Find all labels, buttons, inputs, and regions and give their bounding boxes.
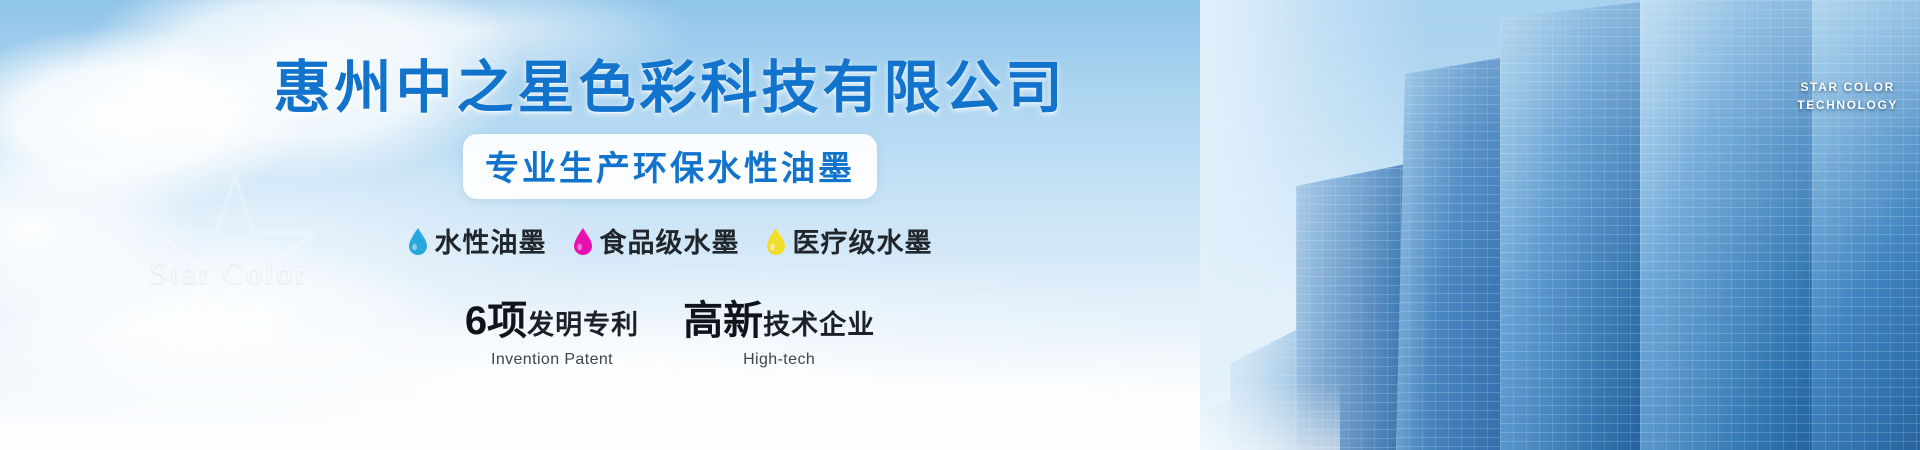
building-brand-line2: TECHNOLOGY (1797, 96, 1898, 114)
subtitle-pill: 专业生产环保水性油墨 (463, 134, 877, 199)
badge-strong-text: 高新 (683, 288, 763, 346)
badge-rest-text: 技术企业 (763, 303, 875, 342)
feature-label: 医疗级水墨 (793, 221, 933, 260)
building-brand-label: STAR COLOR TECHNOLOGY (1797, 78, 1898, 114)
building-brand-line1: STAR COLOR (1797, 78, 1898, 96)
water-drop-icon (573, 227, 593, 255)
badge-english-text: Invention Patent (465, 351, 639, 369)
feature-item-medical-grade-ink: 医疗级水墨 (766, 221, 933, 260)
company-name-headline: 惠州中之星色彩科技有限公司 (274, 58, 1067, 118)
credential-badges: 6项 发明专利 Invention Patent 高新 技术企业 High-te… (465, 288, 875, 369)
badge-high-tech-enterprise: 高新 技术企业 High-tech (683, 288, 875, 369)
feature-label: 食品级水墨 (600, 221, 740, 260)
banner-content: 惠州中之星色彩科技有限公司 专业生产环保水性油墨 水性油墨 食品级水墨 (0, 0, 1340, 450)
badge-main-line: 高新 技术企业 (683, 288, 875, 346)
badge-english-text: High-tech (683, 351, 875, 369)
company-hero-banner: Star Color STAR COLOR TECHNOLOGY 惠州中之星色彩… (0, 0, 1920, 450)
water-drop-icon (766, 227, 786, 255)
feature-item-water-ink: 水性油墨 (408, 221, 547, 260)
water-drop-icon (408, 227, 428, 255)
badge-invention-patent: 6项 发明专利 Invention Patent (465, 288, 639, 369)
badge-rest-text: 发明专利 (527, 303, 639, 342)
feature-item-food-grade-ink: 食品级水墨 (573, 221, 740, 260)
feature-label: 水性油墨 (435, 221, 547, 260)
feature-list: 水性油墨 食品级水墨 医疗级水墨 (408, 221, 933, 260)
badge-strong-text: 6项 (465, 288, 527, 346)
subtitle-text: 专业生产环保水性油墨 (485, 150, 855, 188)
badge-main-line: 6项 发明专利 (465, 288, 639, 346)
